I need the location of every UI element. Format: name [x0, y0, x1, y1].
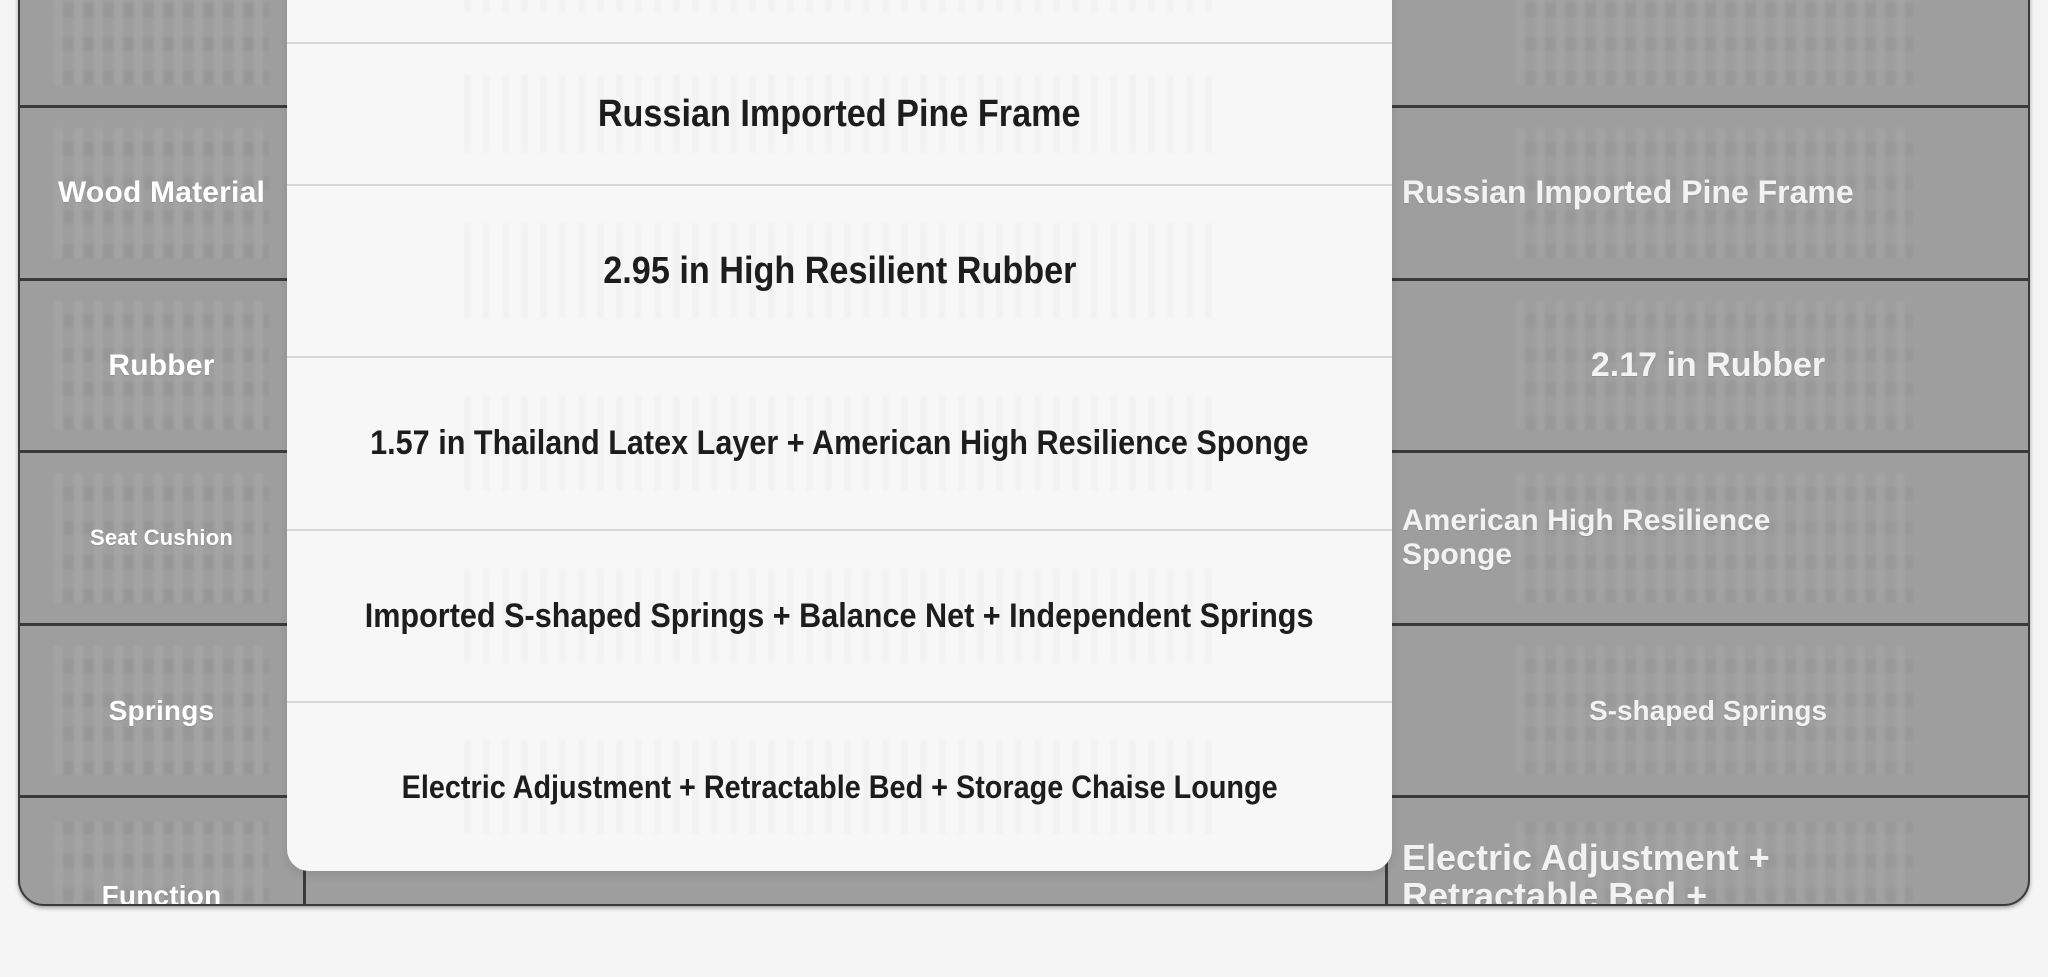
- our-product-text: 1.57 in Thailand Latex Layer + American …: [370, 424, 1308, 463]
- our-product-text: Electric Adjustment + Retractable Bed + …: [402, 769, 1278, 806]
- other-product-text: Electric Adjustment + Retractable Bed + …: [1402, 839, 1832, 906]
- spec-row-seat-cushion: 1.57 in Thailand Latex Layer + American …: [287, 358, 1392, 531]
- watermark-graphic: [54, 0, 269, 85]
- other-product-cell-springs: S-shaped Springs: [1388, 626, 2028, 795]
- watermark-graphic: [464, 0, 1215, 12]
- spec-row: [287, 0, 1392, 44]
- spec-label-cell: [20, 0, 306, 105]
- spec-row-wood-material: Russian Imported Pine Frame: [287, 44, 1392, 186]
- spec-label-cell-function: Function: [20, 798, 306, 906]
- watermark-graphic: [1516, 0, 1913, 85]
- our-product-text: Imported S-shaped Springs + Balance Net …: [365, 597, 1314, 636]
- other-product-cell-wood-material: Russian Imported Pine Frame: [1388, 108, 2028, 278]
- spec-row-springs: Imported S-shaped Springs + Balance Net …: [287, 531, 1392, 703]
- other-product-text: 2.17 in Rubber: [1591, 346, 1825, 384]
- other-product-text: American High Resilience Sponge: [1402, 504, 1782, 571]
- spec-label-cell-rubber: Rubber: [20, 281, 306, 450]
- our-product-spec-panel: Russian Imported Pine Frame 2.95 in High…: [287, 0, 1392, 871]
- other-product-cell-function: Electric Adjustment + Retractable Bed + …: [1388, 798, 2028, 906]
- other-product-text: S-shaped Springs: [1589, 695, 1827, 726]
- spec-row-function: Electric Adjustment + Retractable Bed + …: [287, 703, 1392, 871]
- spec-label-text: Springs: [109, 695, 215, 727]
- spec-label-text: Function: [102, 880, 222, 906]
- other-product-cell: [1388, 0, 2028, 105]
- our-product-text: 2.95 in High Resilient Rubber: [603, 250, 1076, 293]
- spec-row-rubber: 2.95 in High Resilient Rubber: [287, 186, 1392, 358]
- our-product-text: Russian Imported Pine Frame: [598, 93, 1081, 136]
- spec-label-text: Rubber: [108, 349, 214, 383]
- spec-label-cell-springs: Springs: [20, 626, 306, 795]
- spec-label-text: Seat Cushion: [90, 525, 233, 551]
- other-product-text: Russian Imported Pine Frame: [1402, 175, 1854, 211]
- spec-label-cell-wood-material: Wood Material: [20, 108, 306, 278]
- spec-label-cell-seat-cushion: Seat Cushion: [20, 453, 306, 623]
- other-product-cell-rubber: 2.17 in Rubber: [1388, 281, 2028, 450]
- spec-label-text: Wood Material: [58, 176, 265, 210]
- other-product-cell-seat-cushion: American High Resilience Sponge: [1388, 453, 2028, 623]
